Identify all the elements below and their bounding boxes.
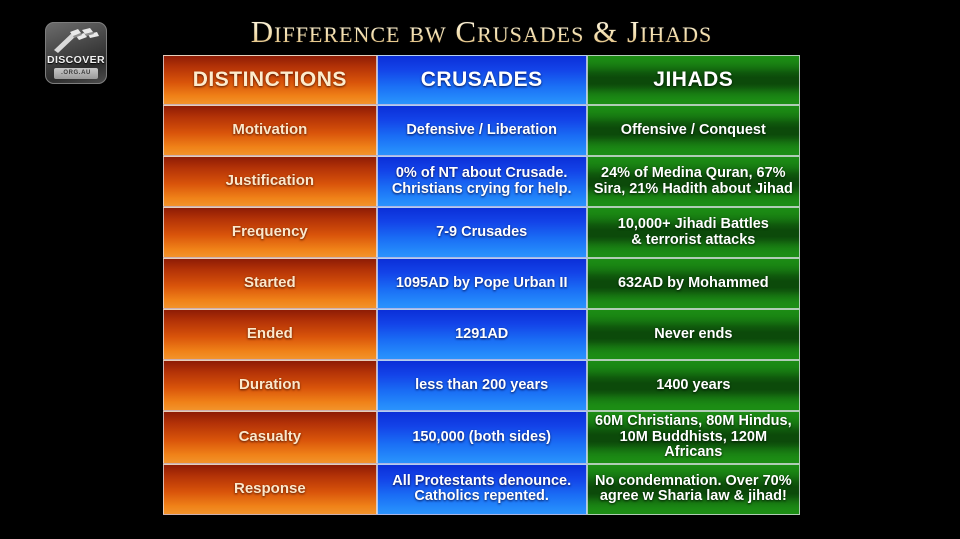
cell-distinction: Casualty [163, 411, 377, 464]
cell-text: Started [164, 259, 376, 308]
cell-text: Defensive / Liberation [378, 106, 586, 155]
header-cell-crusades: CRUSADES [377, 55, 587, 105]
cell-text: 24% of Medina Quran, 67% Sira, 21% Hadit… [588, 157, 799, 206]
header-label-crusades: CRUSADES [378, 56, 586, 104]
cell-crusades: less than 200 years [377, 360, 587, 411]
cell-distinction: Response [163, 464, 377, 515]
cell-text: All Protestants denounce. Catholics repe… [378, 465, 586, 514]
cell-text: Casualty [164, 412, 376, 463]
logo-tagline: .ORG.AU [54, 68, 98, 79]
cell-distinction: Started [163, 258, 377, 309]
cell-jihads: Never ends [587, 309, 800, 360]
header-cell-distinctions: DISTINCTIONS [163, 55, 377, 105]
discover-logo: DISCOVER .ORG.AU [45, 22, 107, 84]
table-header-row: DISTINCTIONS CRUSADES JIHADS [163, 55, 800, 105]
cell-text: Justification [164, 157, 376, 206]
cell-jihads: 24% of Medina Quran, 67% Sira, 21% Hadit… [587, 156, 800, 207]
cell-text: Motivation [164, 106, 376, 155]
cell-jihads: Offensive / Conquest [587, 105, 800, 156]
cell-text: 1095AD by Pope Urban II [378, 259, 586, 308]
cell-crusades: 150,000 (both sides) [377, 411, 587, 464]
cell-text: Never ends [588, 310, 799, 359]
cell-text: No condemnation. Over 70% agree w Sharia… [588, 465, 799, 514]
cell-distinction: Motivation [163, 105, 377, 156]
header-label-distinctions: DISTINCTIONS [164, 56, 376, 104]
table-row: Casualty 150,000 (both sides) 60M Christ… [163, 411, 800, 464]
cell-text: Response [164, 465, 376, 514]
cell-crusades: All Protestants denounce. Catholics repe… [377, 464, 587, 515]
cell-text: Ended [164, 310, 376, 359]
cell-crusades: 1095AD by Pope Urban II [377, 258, 587, 309]
header-cell-jihads: JIHADS [587, 55, 800, 105]
cell-distinction: Justification [163, 156, 377, 207]
cell-distinction: Duration [163, 360, 377, 411]
table-row: Started 1095AD by Pope Urban II 632AD by… [163, 258, 800, 309]
cell-text: Duration [164, 361, 376, 410]
cell-text: 7-9 Crusades [378, 208, 586, 257]
table-row: Motivation Defensive / Liberation Offens… [163, 105, 800, 156]
cell-crusades: Defensive / Liberation [377, 105, 587, 156]
cell-text: Offensive / Conquest [588, 106, 799, 155]
table-row: Ended 1291AD Never ends [163, 309, 800, 360]
cell-crusades: 1291AD [377, 309, 587, 360]
cell-distinction: Frequency [163, 207, 377, 258]
cell-jihads: 10,000+ Jihadi Battles & terrorist attac… [587, 207, 800, 258]
cell-text: 632AD by Mohammed [588, 259, 799, 308]
cell-jihads: 1400 years [587, 360, 800, 411]
table-row: Justification 0% of NT about Crusade. Ch… [163, 156, 800, 207]
cell-text: Frequency [164, 208, 376, 257]
table-row: Response All Protestants denounce. Catho… [163, 464, 800, 515]
logo-wordmark: DISCOVER [45, 54, 107, 66]
table-row: Frequency 7-9 Crusades 10,000+ Jihadi Ba… [163, 207, 800, 258]
cell-text: 150,000 (both sides) [378, 412, 586, 463]
comparison-table: DISTINCTIONS CRUSADES JIHADS Motivation … [163, 55, 800, 515]
slide-canvas: DISCOVER .ORG.AU Difference bw Crusades … [0, 0, 960, 539]
page-title: Difference bw Crusades & Jihads [163, 14, 800, 50]
cell-crusades: 0% of NT about Crusade. Christians cryin… [377, 156, 587, 207]
cell-text: 0% of NT about Crusade. Christians cryin… [378, 157, 586, 206]
flag-swoosh-icon [52, 28, 100, 54]
cell-jihads: 632AD by Mohammed [587, 258, 800, 309]
cell-jihads: No condemnation. Over 70% agree w Sharia… [587, 464, 800, 515]
cell-text: 60M Christians, 80M Hindus, 10M Buddhist… [588, 412, 799, 463]
cell-text: 1400 years [588, 361, 799, 410]
header-label-jihads: JIHADS [588, 56, 799, 104]
cell-crusades: 7-9 Crusades [377, 207, 587, 258]
table-row: Duration less than 200 years 1400 years [163, 360, 800, 411]
cell-text: 1291AD [378, 310, 586, 359]
cell-text: 10,000+ Jihadi Battles & terrorist attac… [588, 208, 799, 257]
cell-jihads: 60M Christians, 80M Hindus, 10M Buddhist… [587, 411, 800, 464]
cell-text: less than 200 years [378, 361, 586, 410]
cell-distinction: Ended [163, 309, 377, 360]
